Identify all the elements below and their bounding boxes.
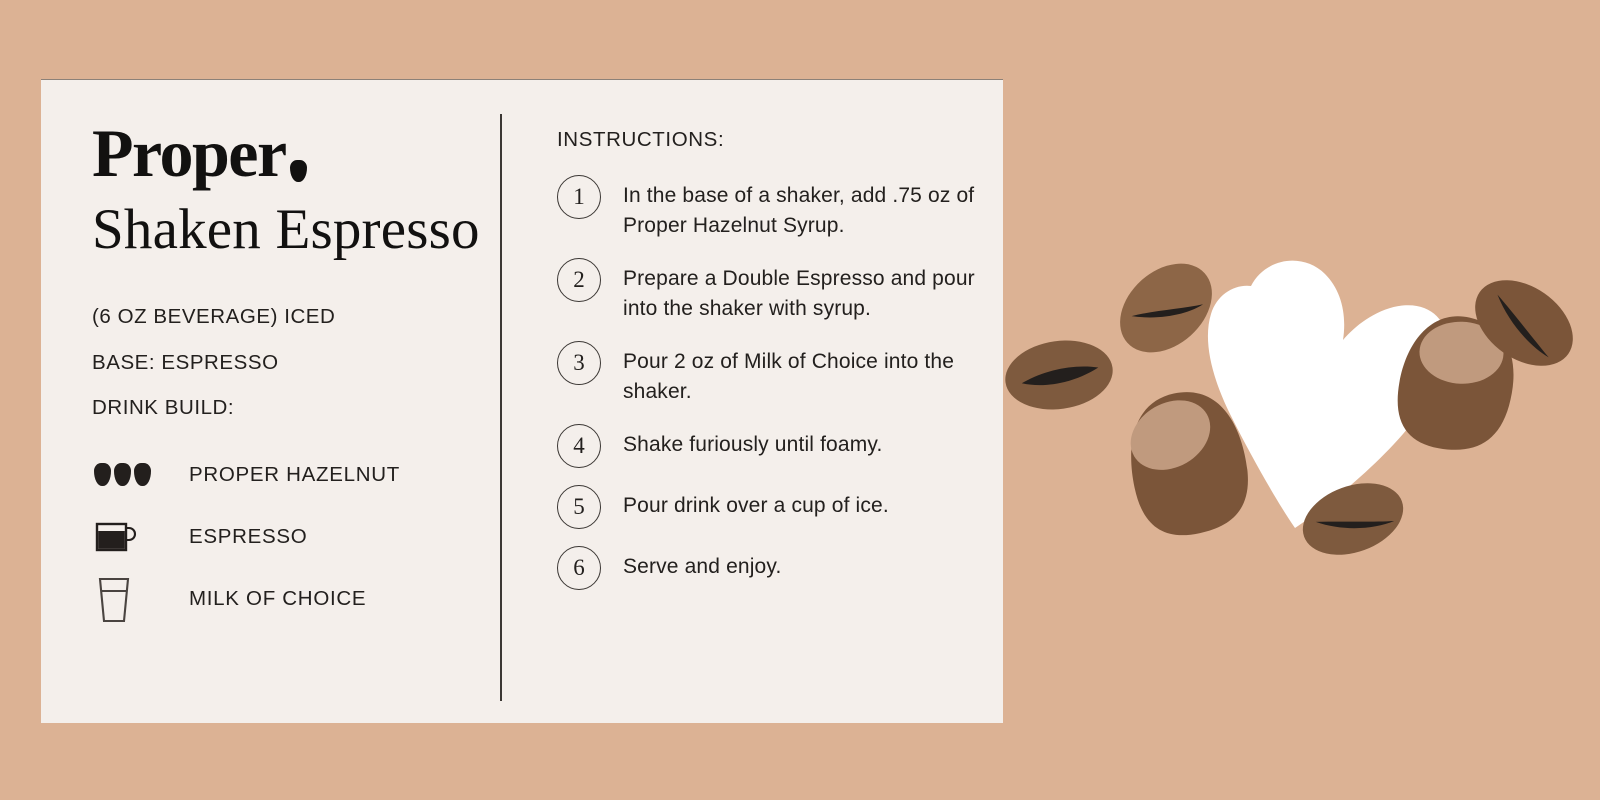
step-text-3: Pour 2 oz of Milk of Choice into the sha… — [623, 347, 1003, 407]
espresso-cup-glyph — [94, 520, 138, 554]
droplet-icon — [94, 463, 111, 486]
brand-name: Proper — [92, 121, 286, 186]
step-number-4: 4 — [557, 424, 601, 468]
build-row-espresso: ESPRESSO — [92, 506, 500, 568]
drink-meta: (6 OZ BEVERAGE) ICED BASE: ESPRESSO DRIN… — [92, 307, 500, 419]
build-label-espresso: ESPRESSO — [189, 525, 307, 549]
page-title: Shaken Espresso — [92, 200, 500, 260]
build-label-hazelnut: PROPER HAZELNUT — [189, 463, 400, 487]
step-text-2: Prepare a Double Espresso and pour into … — [623, 264, 1003, 324]
espresso-cup-icon — [92, 520, 189, 554]
step-number-6: 6 — [557, 546, 601, 590]
step-number-2: 2 — [557, 258, 601, 302]
column-divider — [500, 114, 502, 701]
three-droplets-icon — [92, 463, 189, 486]
step-text-6: Serve and enjoy. — [623, 552, 781, 582]
brand-logo: Proper — [92, 121, 500, 186]
instructions-heading: INSTRUCTIONS: — [557, 128, 1003, 152]
recipe-card: Proper Shaken Espresso (6 OZ BEVERAGE) I… — [41, 79, 1003, 723]
instruction-step: 2 Prepare a Double Espresso and pour int… — [557, 264, 1003, 324]
meta-base: BASE: ESPRESSO — [92, 353, 500, 374]
droplet-icon — [114, 463, 131, 486]
instruction-step: 3 Pour 2 oz of Milk of Choice into the s… — [557, 347, 1003, 407]
step-text-5: Pour drink over a cup of ice. — [623, 491, 889, 521]
step-text-4: Shake furiously until foamy. — [623, 430, 882, 460]
step-number-3: 3 — [557, 341, 601, 385]
card-right-column: INSTRUCTIONS: 1 In the base of a shaker,… — [500, 80, 1003, 723]
build-row-hazelnut: PROPER HAZELNUT — [92, 444, 500, 506]
instruction-step: 5 Pour drink over a cup of ice. — [557, 491, 1003, 529]
droplet-icon — [134, 463, 151, 486]
card-left-column: Proper Shaken Espresso (6 OZ BEVERAGE) I… — [41, 80, 500, 723]
milk-glass-glyph — [94, 575, 134, 623]
step-number-5: 5 — [557, 485, 601, 529]
droplet-period-icon — [290, 160, 307, 182]
coffee-bean-flat-left — [1003, 334, 1117, 416]
build-label-milk: MILK OF CHOICE — [189, 587, 366, 611]
instruction-step: 4 Shake furiously until foamy. — [557, 430, 1003, 468]
meta-drink-build-label: DRINK BUILD: — [92, 398, 500, 419]
illustration-canvas — [1003, 230, 1600, 570]
step-number-1: 1 — [557, 175, 601, 219]
instruction-step: 1 In the base of a shaker, add .75 oz of… — [557, 181, 1003, 241]
drink-build-list: PROPER HAZELNUT ESPRESSO — [92, 444, 500, 630]
coffee-beans-heart-illustration — [1003, 230, 1600, 570]
meta-serving-size: (6 OZ BEVERAGE) ICED — [92, 307, 500, 328]
milk-glass-icon — [92, 575, 189, 623]
step-text-1: In the base of a shaker, add .75 oz of P… — [623, 181, 1003, 241]
build-row-milk: MILK OF CHOICE — [92, 568, 500, 630]
instruction-step: 6 Serve and enjoy. — [557, 552, 1003, 590]
